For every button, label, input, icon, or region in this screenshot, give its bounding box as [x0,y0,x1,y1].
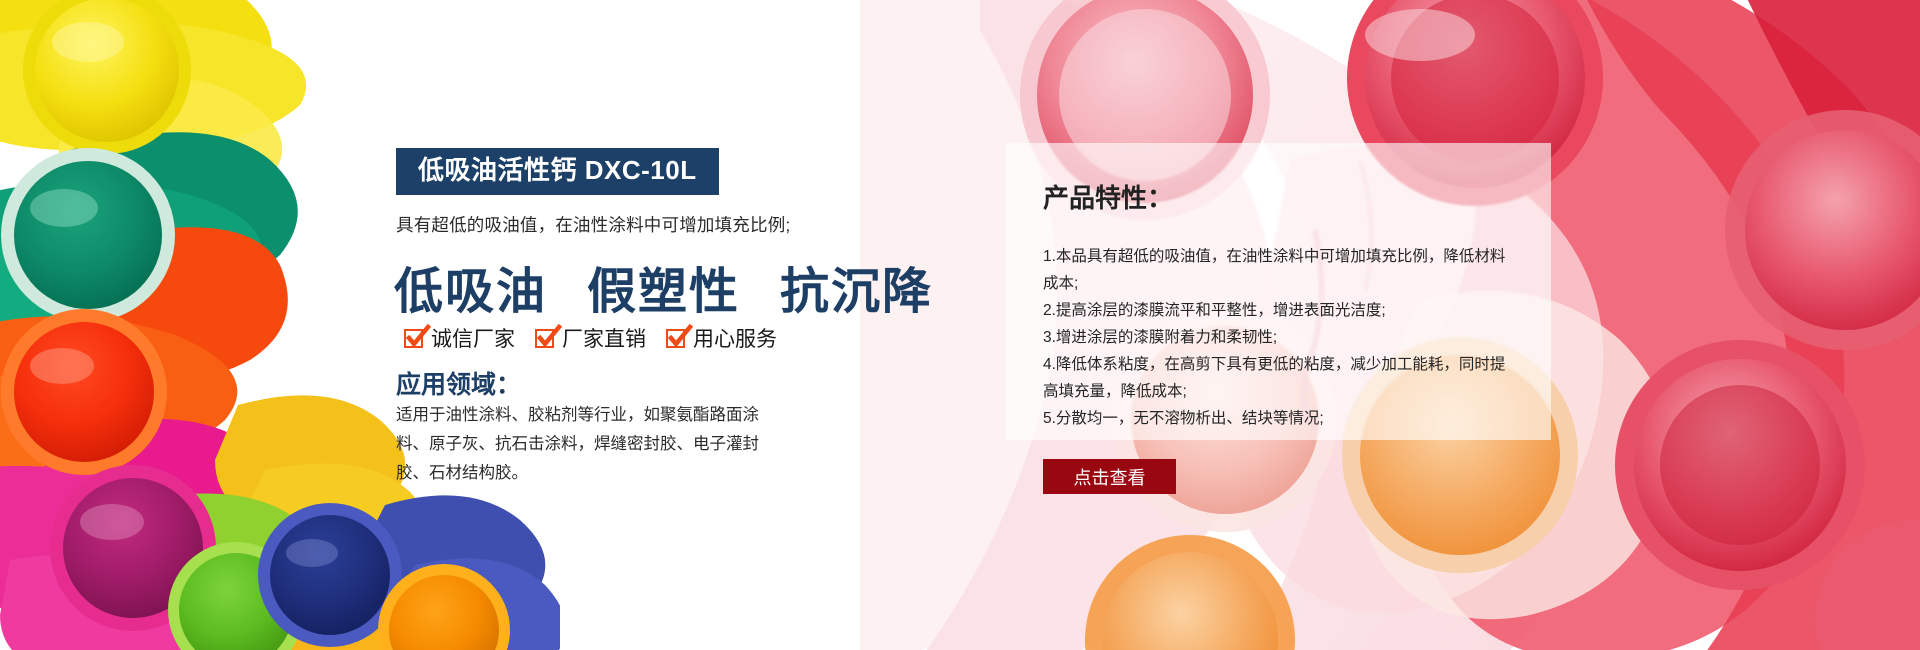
product-features-list: 1.本品具有超低的吸油值，在油性涂料中可增加填充比例，降低材料成本; 2.提高涂… [1043,243,1513,432]
feature-item-2: 2.提高涂层的漆膜流平和平整性，增进表面光洁度; [1043,297,1513,324]
trust-badge-1: 诚信厂家 [404,323,515,353]
checkbox-checked-icon [535,329,554,348]
trust-badge-2: 厂家直销 [535,323,646,353]
trust-badge-1-label: 诚信厂家 [431,323,515,353]
feature-item-5: 5.分散均一，无不溶物析出、结块等情况; [1043,405,1513,432]
feature-item-4: 4.降低体系粘度，在高剪下具有更低的粘度，减少加工能耗，同时提高填充量，降低成本… [1043,351,1513,405]
checkbox-checked-icon [666,329,685,348]
product-highlights: 低吸油 假塑性 抗沉降 [394,252,933,323]
application-area-body: 适用于油性涂料、胶粘剂等行业，如聚氨酯路面涂料、原子灰、抗石击涂料，焊缝密封胶、… [396,401,788,488]
highlight-3: 抗沉降 [780,252,933,323]
product-title-chip: 低吸油活性钙 DXC-10L [396,148,719,195]
feature-item-1: 1.本品具有超低的吸油值，在油性涂料中可增加填充比例，降低材料成本; [1043,243,1513,297]
trust-badge-3-label: 用心服务 [693,323,777,353]
trust-badge-2-label: 厂家直销 [562,323,646,353]
checkbox-checked-icon [404,329,423,348]
trust-badge-3: 用心服务 [666,323,777,353]
application-area-title: 应用领域： [396,365,521,401]
banner-content: 低吸油活性钙 DXC-10L 具有超低的吸油值，在油性涂料中可增加填充比例; 低… [0,0,1920,650]
highlight-2: 假塑性 [587,252,740,323]
product-subtitle: 具有超低的吸油值，在油性涂料中可增加填充比例; [396,212,790,237]
banner-stage: 低吸油活性钙 DXC-10L 具有超低的吸油值，在油性涂料中可增加填充比例; 低… [0,0,1920,650]
product-features-title: 产品特性： [1043,178,1173,215]
view-details-button[interactable]: 点击查看 [1043,459,1176,494]
trust-badges: 诚信厂家 厂家直销 用心服务 [404,323,777,353]
feature-item-3: 3.增进涂层的漆膜附着力和柔韧性; [1043,324,1513,351]
highlight-1: 低吸油 [394,252,547,323]
